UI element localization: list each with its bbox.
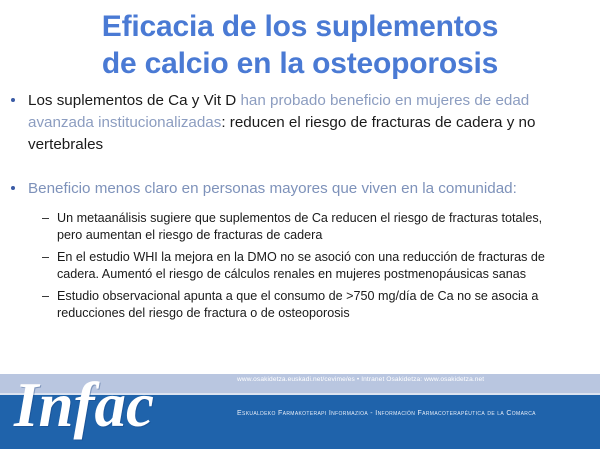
sub-bullet-2-text: En el estudio WHI la mejora en la DMO no…: [57, 250, 545, 281]
sub-bullet-3-text: Estudio observacional apunta a que el co…: [57, 289, 538, 320]
footer-url-text[interactable]: www.osakidetza.euskadi.net/cevime/es • I…: [237, 376, 587, 383]
bullet-1-segment-1: Los suplementos de Ca y Vit D: [28, 92, 240, 109]
en-dash-icon: –: [42, 249, 49, 266]
slide-body: Los suplementos de Ca y Vit D han probad…: [0, 90, 600, 327]
page-title: Eficacia de los suplementos de calcio en…: [0, 8, 600, 82]
infac-logo: Infac: [14, 366, 154, 445]
title-line-2: de calcio en la osteoporosis: [0, 45, 600, 82]
list-item: –Estudio observacional apunta a que el c…: [0, 288, 600, 322]
sub-bullet-list: –Un metaanálisis sugiere que suplementos…: [0, 210, 600, 322]
sub-bullet-1-text: Un metaanálisis sugiere que suplementos …: [57, 211, 542, 242]
list-item: Beneficio menos claro en personas mayore…: [0, 178, 600, 200]
slide-footer: Infac www.osakidetza.euskadi.net/cevime/…: [0, 370, 600, 449]
title-line-1: Eficacia de los suplementos: [0, 8, 600, 45]
en-dash-icon: –: [42, 210, 49, 227]
bullet-dot-icon: [11, 98, 15, 102]
footer-tagline: Eskualdeko Farmakoterapi Informazioa - I…: [237, 410, 587, 417]
list-item: –Un metaanálisis sugiere que suplementos…: [0, 210, 600, 244]
bullet-2-text: Beneficio menos claro en personas mayore…: [28, 180, 517, 197]
list-item: Los suplementos de Ca y Vit D han probad…: [0, 90, 600, 156]
list-item: –En el estudio WHI la mejora en la DMO n…: [0, 249, 600, 283]
en-dash-icon: –: [42, 288, 49, 305]
presentation-slide: Eficacia de los suplementos de calcio en…: [0, 0, 600, 449]
bullet-dot-icon: [11, 186, 15, 190]
